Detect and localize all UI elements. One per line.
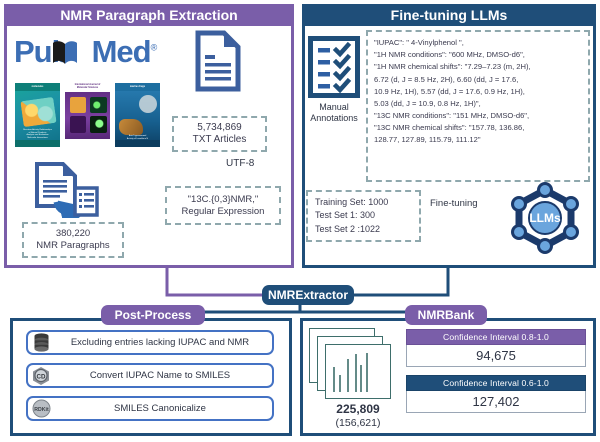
postprocess-step-label: Convert IUPAC Name to SMILES xyxy=(54,370,272,381)
nmrbank-spectra-subcount: (156,621) xyxy=(318,417,398,430)
cover-footer-bar xyxy=(65,139,110,147)
llms-node-label: LLMs xyxy=(529,211,561,225)
extract-paragraph-icon xyxy=(34,162,100,218)
manual-annotations-label: Manual Annotations xyxy=(300,102,368,124)
regex-box: "13C.{0,3}NMR," Regular Expression xyxy=(165,186,281,225)
confidence-card-high: Confidence Interval 0.8-1.0 94,675 xyxy=(406,329,586,367)
confidence-card-header: Confidence Interval 0.8-1.0 xyxy=(406,329,586,345)
cover-footer-bar xyxy=(15,140,60,147)
annotation-line: "IUPAC": " 4-Vinylphenol ", xyxy=(374,38,464,47)
rdkit-icon: RDKit xyxy=(28,399,54,418)
postprocess-step-label: SMILES Canonicalize xyxy=(54,403,272,414)
nmr-paragraphs-count: 380,220 xyxy=(56,228,90,240)
spectrum-card-front xyxy=(325,344,391,399)
annotation-line: 6.72 (d, J = 8.5 Hz, 2H), 6.60 (dd, J = … xyxy=(374,75,518,84)
pubmed-logo: PubMed® xyxy=(14,34,156,70)
regex-pattern: "13C.{0,3}NMR," xyxy=(188,194,259,206)
panel-finetune-title: Fine-tuning LLMs xyxy=(302,4,596,26)
nmrextractor-badge: NMRExtractor xyxy=(262,285,354,305)
utf8-label: UTF-8 xyxy=(226,158,254,170)
manual-annotations-line1: Manual xyxy=(319,102,349,112)
panel-nmrbank-title: NMRBank xyxy=(405,305,487,325)
nmr-paragraphs-box: 380,220 NMR Paragraphs xyxy=(22,222,124,258)
panel-extraction-title: NMR Paragraph Extraction xyxy=(4,4,294,26)
confidence-card-value: 127,402 xyxy=(406,391,586,413)
svg-text:CD: CD xyxy=(37,373,46,380)
cover-journal-name: International Journal ofMolecular Scienc… xyxy=(67,84,108,90)
txt-articles-label: TXT Articles xyxy=(193,134,247,147)
annotation-line: 128.77, 127.89, 115.79, 111.12" xyxy=(374,135,481,144)
cover-caption: Structure-Activity Relationshipsof Natur… xyxy=(17,129,58,139)
annotation-line: "13C NMR chemical shifts": "157.78, 136.… xyxy=(374,123,524,132)
llms-network-icon: LLMs xyxy=(505,178,585,258)
postprocess-step-row[interactable]: CD Convert IUPAC Name to SMILES xyxy=(26,363,274,388)
cover-journal-name: molecules xyxy=(17,85,58,88)
regex-label: Regular Expression xyxy=(182,206,265,218)
annotation-line: 5.03 (dd, J = 10.9, 0.8 Hz, 1H)", xyxy=(374,99,481,108)
journal-cover-molecules: molecules Structure-Activity Relationshi… xyxy=(14,82,61,148)
panel-postprocess-title: Post-Process xyxy=(101,305,205,325)
journal-cover-marine-drugs: marine drugs Anti-TrypanosomalActivity o… xyxy=(114,82,161,148)
nmr-paragraphs-label: NMR Paragraphs xyxy=(36,240,109,252)
split-line: Test Set 1: 300 xyxy=(315,210,375,221)
fine-tuning-label: Fine-tuning xyxy=(430,198,478,210)
journal-cover-ijms: International Journal ofMolecular Scienc… xyxy=(64,82,111,148)
nmrbank-spectra-count: 225,809 xyxy=(318,402,398,416)
annotation-line: "1H NMR conditions": "600 MHz, DMSO-d6", xyxy=(374,50,525,59)
split-line: Test Set 2 :1022 xyxy=(315,224,380,235)
open-book-icon xyxy=(48,35,82,69)
pubmed-logo-med: Med xyxy=(92,34,151,69)
dataset-splits-box: Training Set: 1000 Test Set 1: 300 Test … xyxy=(306,190,421,242)
checklist-icon xyxy=(308,36,360,98)
txt-articles-box: 5,734,869 TXT Articles xyxy=(172,116,267,152)
database-icon xyxy=(28,333,54,352)
annotation-line: "1H NMR chemical shifts": "7.29–7.23 (m,… xyxy=(374,62,531,71)
split-line: Training Set: 1000 xyxy=(315,197,388,208)
annotation-json-box: "IUPAC": " 4-Vinylphenol ", "1H NMR cond… xyxy=(366,30,590,182)
registered-icon: ® xyxy=(151,43,157,53)
txt-articles-count: 5,734,869 xyxy=(197,122,242,135)
opsin-cd-icon: CD xyxy=(28,366,54,386)
postprocess-step-label: Excluding entries lacking IUPAC and NMR xyxy=(54,337,272,348)
cover-footer-bar xyxy=(115,140,160,147)
postprocess-step-row[interactable]: RDKit SMILES Canonicalize xyxy=(26,396,274,421)
manual-annotations-line2: Annotations xyxy=(310,113,358,123)
confidence-card-low: Confidence Interval 0.6-1.0 127,402 xyxy=(406,375,586,413)
document-icon xyxy=(195,30,241,92)
annotation-line: 10.9 Hz, 1H), 5.57 (dd, J = 17.6, 0.9 Hz… xyxy=(374,87,525,96)
spectrum-peaks xyxy=(326,345,390,398)
svg-text:RDKit: RDKit xyxy=(34,407,49,413)
annotation-line: "13C NMR conditions": "151 MHz, DMSO-d6"… xyxy=(374,111,529,120)
postprocess-step-row[interactable]: Excluding entries lacking IUPAC and NMR xyxy=(26,330,274,355)
cover-journal-name: marine drugs xyxy=(117,85,158,88)
confidence-card-header: Confidence Interval 0.6-1.0 xyxy=(406,375,586,391)
confidence-card-value: 94,675 xyxy=(406,345,586,367)
